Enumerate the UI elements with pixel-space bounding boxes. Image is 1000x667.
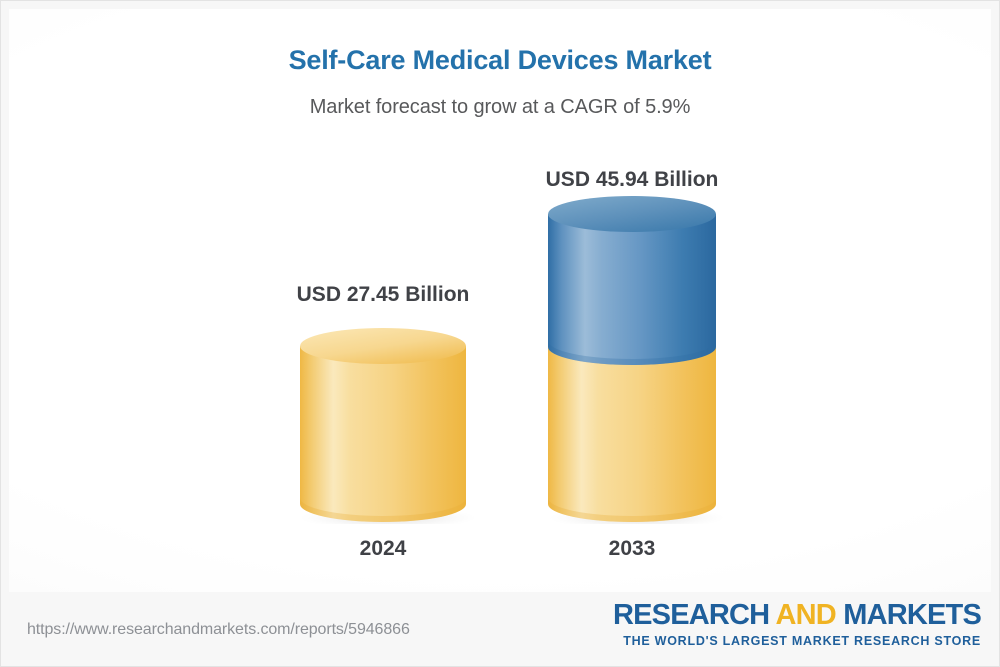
chart-canvas: Self-Care Medical Devices Market Market … — [0, 0, 1000, 667]
category-label-2033: 2033 — [540, 537, 724, 561]
bar-group-2024: USD 27.45 Billion — [292, 164, 474, 544]
logo-tagline: THE WORLD'S LARGEST MARKET RESEARCH STOR… — [613, 635, 981, 648]
research-and-markets-logo[interactable]: RESEARCH AND MARKETS THE WORLD'S LARGEST… — [613, 601, 981, 648]
bar-group-2033: USD 45.94 Billion — [540, 164, 724, 544]
logo-wordmark: RESEARCH AND MARKETS — [613, 601, 981, 630]
plot-area: Self-Care Medical Devices Market Market … — [9, 9, 991, 592]
logo-research-text: RESEARCH — [613, 599, 776, 631]
chart-title: Self-Care Medical Devices Market — [9, 45, 991, 76]
category-label-2024: 2024 — [292, 537, 474, 561]
report-url[interactable]: https://www.researchandmarkets.com/repor… — [27, 621, 410, 639]
logo-and-text: AND — [776, 599, 836, 631]
cylinder-2033 — [540, 164, 724, 524]
logo-markets-text: MARKETS — [836, 599, 981, 631]
chart-subtitle: Market forecast to grow at a CAGR of 5.9… — [9, 96, 991, 119]
cylinder-2024 — [292, 164, 474, 524]
